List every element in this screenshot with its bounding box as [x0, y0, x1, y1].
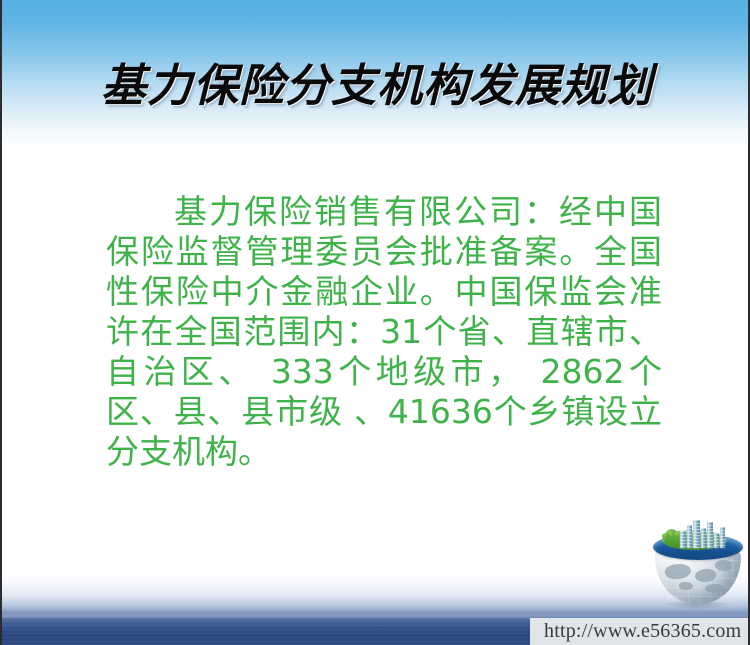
building-icon — [707, 522, 713, 548]
slide-body-paragraph: 基力保险销售有限公司：经中国保险监督管理委员会批准备案。全国性保险中介金融企业。… — [106, 192, 662, 472]
tree-icon — [662, 533, 669, 539]
continent-shape — [715, 560, 732, 571]
presentation-slide: 基力保险分支机构发展规划 基力保险销售有限公司：经中国保险监督管理委员会批准备案… — [0, 0, 750, 645]
building-icon — [687, 525, 692, 548]
building-icon — [680, 531, 686, 548]
city-skyline — [680, 520, 726, 548]
watermark-bar: http://www.e56365.com — [530, 618, 750, 645]
building-icon — [720, 527, 725, 548]
watermark-url: http://www.e56365.com — [544, 620, 741, 643]
continent-shape — [705, 584, 725, 593]
continent-shape — [679, 582, 693, 590]
globe-city-icon — [650, 520, 746, 612]
slide-title: 基力保险分支机构发展规划 — [2, 58, 750, 114]
building-icon — [693, 520, 700, 548]
building-icon — [701, 528, 706, 548]
building-icon — [714, 533, 719, 548]
continent-shape — [695, 569, 716, 582]
